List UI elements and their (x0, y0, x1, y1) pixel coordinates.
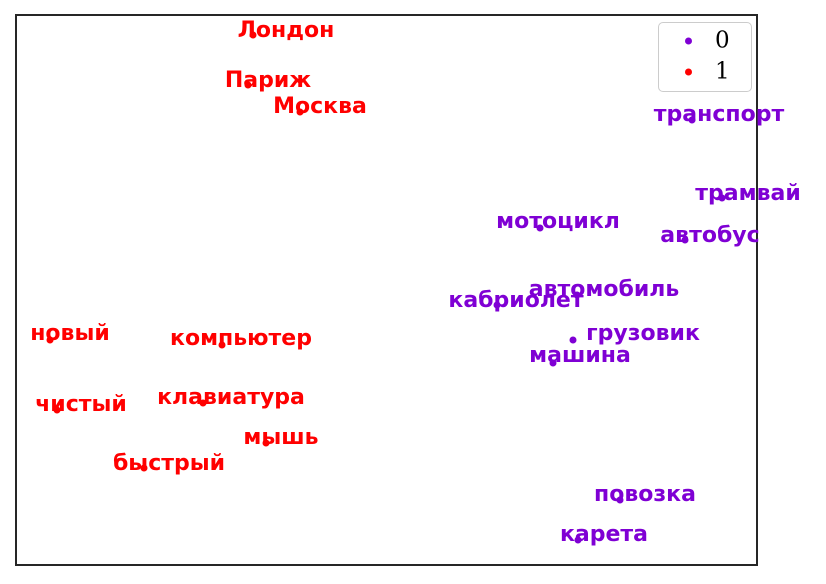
plot-area (15, 14, 758, 566)
legend-entry-1: 1 (659, 54, 753, 89)
legend-entry-0: 0 (659, 23, 753, 58)
legend-marker-dot-icon (685, 68, 692, 75)
scatter-plot-figure: транспорттрамваймотоциклавтобусавтомобил… (0, 0, 826, 584)
legend-entry-label: 1 (715, 60, 730, 83)
legend-entry-label: 0 (715, 29, 730, 52)
legend-marker-dot-icon (685, 37, 692, 44)
legend: 0 1 (658, 22, 752, 92)
